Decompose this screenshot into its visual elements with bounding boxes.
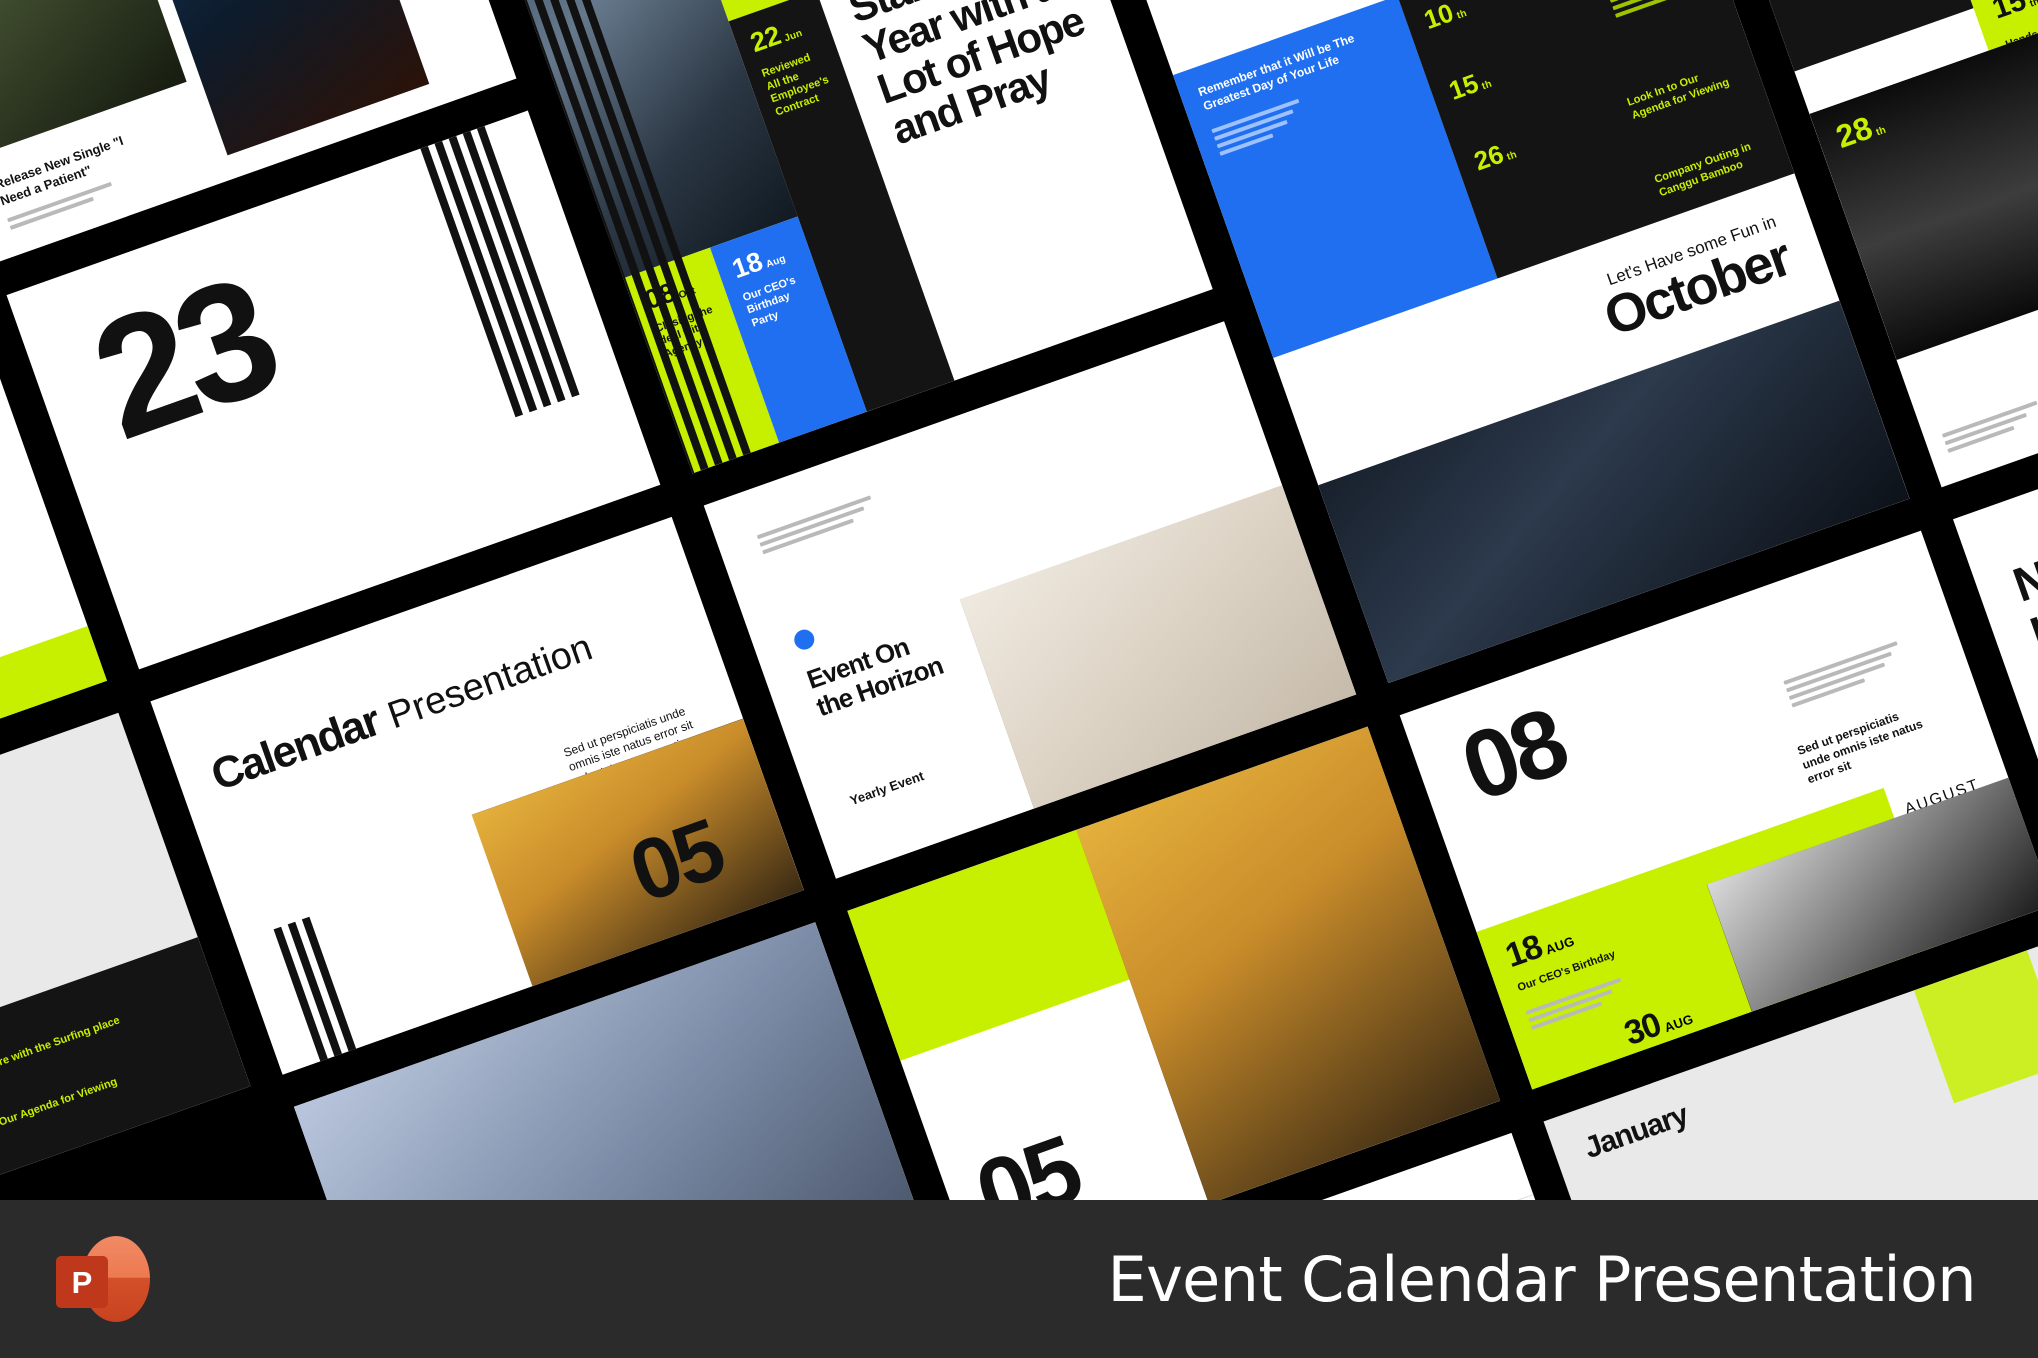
october-item-suffix: th bbox=[1480, 78, 1493, 92]
january-title: January bbox=[1582, 1102, 1691, 1161]
title-light: Presentation bbox=[382, 626, 597, 738]
november-title: November Is Not Raining bbox=[2007, 477, 2038, 710]
tile-day: 22 bbox=[746, 20, 785, 59]
event-horizon-title: Event On the Horizon bbox=[803, 620, 955, 723]
aprils-item-suffix: th bbox=[2028, 0, 2038, 9]
yearly-event-label: Yearly Event bbox=[848, 768, 926, 809]
powerpoint-icon: P bbox=[56, 1236, 142, 1322]
big-number: 23 bbox=[79, 263, 286, 453]
slide-deck-mockup: Company Welcoming Internship Batch 122 0… bbox=[0, 0, 2038, 1358]
tile-month: Jun bbox=[783, 28, 804, 45]
october-item-day: 10 bbox=[1420, 0, 1458, 36]
title-bold: Calendar bbox=[207, 702, 384, 795]
start-year-title: Start the Year with a Lot of Hope and Pr… bbox=[844, 0, 1111, 152]
august-number: 08 bbox=[1454, 702, 1574, 811]
october-item-day: 15 bbox=[1445, 68, 1483, 107]
globe-icon bbox=[791, 627, 817, 653]
tile-label: Reviewed All the Employee's Contract bbox=[760, 47, 839, 120]
footer-bar: P Event Calendar Presentation bbox=[0, 1200, 2038, 1358]
august-item-month: AUG bbox=[1544, 934, 1577, 958]
october-item-suffix: th bbox=[1505, 149, 1518, 163]
powerpoint-letter: P bbox=[56, 1256, 108, 1308]
august-bold-body: Sed ut perspiciatis unde omnis iste natu… bbox=[1796, 702, 1934, 788]
tile-day: 18 bbox=[728, 246, 767, 285]
august-item-month: AUG bbox=[1662, 1011, 1695, 1035]
slide-grid: Company Welcoming Internship Batch 122 0… bbox=[0, 0, 2038, 1358]
october-item-label: Look In to Our Agenda for Viewing bbox=[1625, 60, 1738, 123]
screenshot-root: Company Welcoming Internship Batch 122 0… bbox=[0, 0, 2038, 1358]
tile-month: Aug bbox=[765, 253, 788, 270]
october-item-day: 26 bbox=[1470, 138, 1508, 177]
october-number: 10 bbox=[1162, 0, 1297, 3]
august-item-day: 30 bbox=[1621, 1010, 1664, 1049]
october-item-suffix: th bbox=[1455, 8, 1468, 22]
october-item-label: Company Outing in Canggu Bamboo bbox=[1653, 138, 1766, 201]
august-item-day: 18 bbox=[1502, 933, 1545, 972]
aprils-item-day: 15 bbox=[1988, 0, 2031, 26]
footer-title: Event Calendar Presentation bbox=[1108, 1243, 1976, 1316]
